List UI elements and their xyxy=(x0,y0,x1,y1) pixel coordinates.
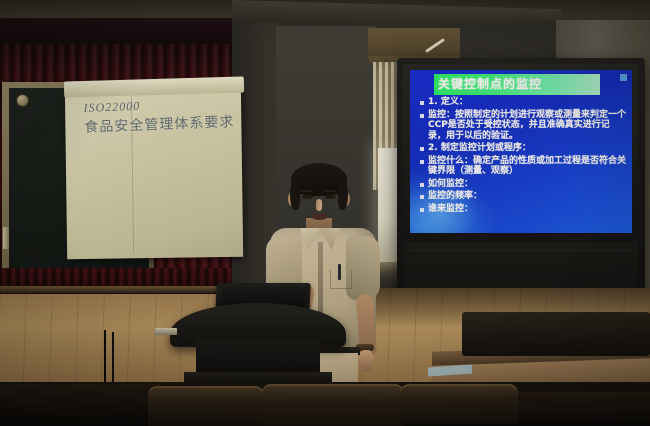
slide-bullet-text: 监控的频率： xyxy=(428,191,482,202)
bullet-square-icon xyxy=(420,114,424,118)
slide-logo-icon xyxy=(620,74,627,81)
chalkboard-knob-icon[interactable] xyxy=(16,94,29,107)
bullet-square-icon xyxy=(420,195,424,199)
right-eye xyxy=(325,195,336,199)
slide-bullet-text: 如何监控： xyxy=(428,179,473,190)
slide-bullet-text: 监控什么：确定产品的性质或加工过程是否符合关键界限（测量、观察） xyxy=(428,156,626,177)
slide-bullet: 1. 定义： xyxy=(420,97,626,108)
seat-block-left xyxy=(0,384,160,426)
slide-bullet: 监控：按照制定的计划进行观察或测量来判定一个CCP是否处于受控状态，并且准确真实… xyxy=(420,110,626,142)
tv-cabinet-seam xyxy=(410,250,632,251)
curtain-valance xyxy=(0,18,232,44)
seat-back xyxy=(400,384,518,424)
slide-bullet: 2. 制定监控计划或程序： xyxy=(420,143,626,154)
bullet-square-icon xyxy=(420,147,424,151)
bullet-square-icon xyxy=(420,101,424,105)
hair-left-side xyxy=(290,180,300,210)
slide-bullet-text: 1. 定义： xyxy=(428,97,468,108)
slide-bullet-text: 监控：按照制定的计划进行观察或测量来判定一个CCP是否处于受控状态，并且准确真实… xyxy=(428,110,626,142)
slide-bullet: 谁来监控： xyxy=(420,204,626,215)
shirt-pocket xyxy=(330,270,352,289)
left-eye xyxy=(302,195,313,199)
bullet-square-icon xyxy=(420,160,424,164)
chalkboard-latch-icon[interactable] xyxy=(3,227,9,249)
bullet-square-icon xyxy=(420,183,424,187)
presentation-slide: 关键控制点的监控 1. 定义：监控：按照制定的计划进行观察或测量来判定一个CCP… xyxy=(410,70,632,233)
seat-block-right xyxy=(500,392,650,426)
right-hand xyxy=(358,350,374,372)
slide-bullet: 监控什么：确定产品的性质或加工过程是否符合关键界限（测量、观察） xyxy=(420,156,626,177)
slide-bullet-list: 1. 定义：监控：按照制定的计划进行观察或测量来判定一个CCP是否处于受控状态，… xyxy=(420,97,626,216)
hair-right-side xyxy=(338,180,348,210)
slide-bullet-text: 谁来监控： xyxy=(428,204,473,215)
right-sleeve xyxy=(346,236,380,300)
slide-bullet-text: 2. 制定监控计划或程序： xyxy=(428,143,531,154)
seat-back xyxy=(148,386,264,426)
mouth xyxy=(312,214,327,220)
bullet-square-icon xyxy=(420,208,424,212)
pen-icon xyxy=(338,264,341,280)
right-side-table xyxy=(462,312,650,356)
slide-title: 关键控制点的监控 xyxy=(438,75,598,94)
flipchart-handwriting: ISO22000 食品安全管理体系要求 xyxy=(83,93,236,139)
lectern-nameplate xyxy=(155,328,177,335)
slide-bullet: 监控的频率： xyxy=(420,191,626,202)
seat-back xyxy=(262,384,404,426)
lecture-hall-photo: ISO22000 食品安全管理体系要求 关键控制点的监控 1. 定义：监控：按照… xyxy=(0,0,650,426)
nose xyxy=(316,199,322,211)
slide-bullet: 如何监控： xyxy=(420,179,626,190)
